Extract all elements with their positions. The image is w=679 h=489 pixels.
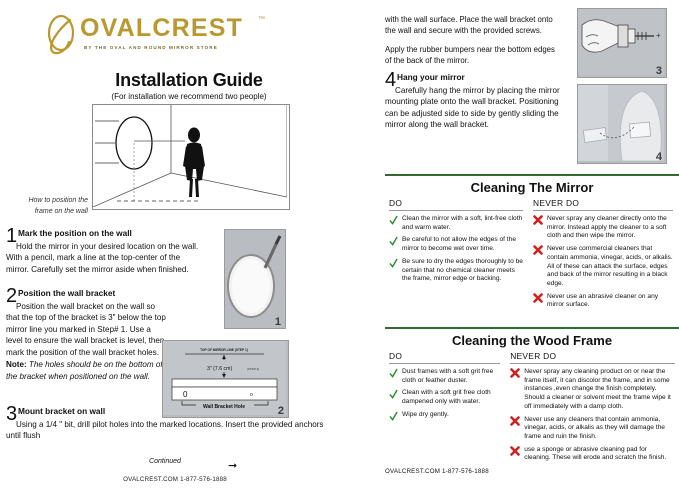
continuation-paragraph-1: with the wall surface. Place the wall br… [385, 14, 561, 37]
right-column: with the wall surface. Place the wall br… [385, 0, 679, 489]
never-item: Never spray any cleaner directly onto th… [533, 215, 673, 241]
step-4-heading: Hang your mirror [397, 72, 571, 84]
never-item: Never spray any cleaning product on or n… [510, 368, 675, 412]
footer-right: OVALCREST.COM 1-877-576-1888 [385, 468, 489, 475]
photo-oval-mirror-with-pencil: 1 [224, 229, 286, 329]
never-column-frame: NEVER DO Never spray any cleaning produc… [510, 351, 675, 463]
never-column-mirror: NEVER DO Never spray any cleaner directl… [533, 198, 673, 310]
do-column-frame: DO Dust frames with a soft grit free clo… [389, 351, 500, 463]
section-title-cleaning-wood-frame: Cleaning the Wood Frame [385, 329, 679, 351]
continuation-paragraph-2: Apply the rubber bumpers near the bottom… [385, 44, 561, 67]
step-4-number: 4 [385, 72, 396, 89]
footer-left: OVALCREST.COM 1-877-576-1888 [0, 476, 350, 483]
photo-hanging-mirror-on-bracket: 4 [577, 84, 667, 164]
photo-2-number: 2 [278, 405, 284, 417]
photo-4-number: 4 [656, 151, 662, 163]
step-4: 4 Hang your mirror Carefully hang the mi… [385, 72, 571, 131]
never-item-text: Never use any cleaners that contain ammo… [524, 416, 675, 442]
page-title: Installation Guide [0, 70, 378, 91]
never-header-frame: NEVER DO [510, 351, 675, 364]
svg-text:3" (7.6 cm): 3" (7.6 cm) [207, 366, 232, 372]
photo-hand-drilling-screw: + 3 [577, 8, 667, 78]
step-2-number: 2 [6, 288, 17, 305]
trademark-symbol: ™ [258, 16, 265, 23]
do-item: Dust frames with a soft grit free cloth … [389, 368, 500, 385]
red-x-icon [533, 215, 543, 225]
oval-swirl-logo-icon [40, 14, 82, 56]
check-mark-icon [389, 236, 398, 246]
step-3-number: 3 [6, 406, 17, 423]
do-item: Be sure to dry the edges thoroughly to b… [389, 258, 523, 284]
svg-text:TOP OF MIRROR LINE (STEP 1): TOP OF MIRROR LINE (STEP 1) [200, 348, 248, 352]
red-x-icon [510, 446, 520, 456]
never-item: Never use any cleaners that contain ammo… [510, 416, 675, 442]
continued-label: Continued [0, 458, 330, 465]
check-mark-icon [389, 389, 398, 399]
red-x-icon [533, 293, 543, 303]
never-item-text: Never spray any cleaning product on or n… [524, 368, 675, 412]
section-title-cleaning-mirror: Cleaning The Mirror [385, 176, 679, 198]
svg-text:Wall Bracket Hole: Wall Bracket Hole [203, 404, 245, 410]
step-2-body: Position the wall bracket on the wall so… [6, 301, 166, 358]
do-item: Be careful to not allow the edges of the… [389, 236, 523, 253]
red-x-icon [510, 368, 520, 378]
do-item-text: Clean the mirror with a soft, lint-free … [402, 215, 523, 232]
do-item: Clean the mirror with a soft, lint-free … [389, 215, 523, 232]
step-2: 2 Position the wall bracket Position the… [6, 288, 166, 382]
step-3-body: Using a 1/4 " bit, drill pilot holes int… [6, 419, 336, 442]
section-cleaning-wood-frame: Cleaning the Wood Frame DO Dust frames w… [385, 327, 679, 463]
never-item-text: use a sponge or abrasive cleaning pad fo… [524, 446, 675, 463]
red-x-icon [510, 416, 520, 426]
do-item-text: Dust frames with a soft grit free cloth … [402, 368, 500, 385]
do-header-mirror: DO [389, 198, 523, 211]
check-mark-icon [389, 258, 398, 268]
step-4-body: Carefully hang the mirror by placing the… [385, 85, 571, 131]
check-mark-icon [389, 411, 398, 421]
brand-logo: OVALCREST ™ BY THE OVAL AND ROUND MIRROR… [40, 14, 280, 60]
svg-text:0: 0 [183, 390, 188, 399]
never-header-mirror: NEVER DO [533, 198, 673, 211]
do-column-mirror: DO Clean the mirror with a soft, lint-fr… [389, 198, 523, 310]
do-item-text: Clean with a soft grit free cloth dampen… [402, 389, 500, 406]
step-1-body: Hold the mirror in your desired location… [6, 241, 202, 275]
step-1-number: 1 [6, 228, 17, 245]
do-item: Wipe dry gently. [389, 411, 500, 421]
red-x-icon [533, 245, 543, 255]
diagram-caption-line1: How to position the [28, 197, 88, 204]
never-item: Never use commercial cleaners that conta… [533, 245, 673, 289]
photo-3-number: 3 [656, 65, 662, 77]
photo-1-number: 1 [275, 316, 281, 328]
step-1: 1 Mark the position on the wall Hold the… [6, 228, 202, 275]
svg-text:+: + [656, 31, 661, 40]
diagram-caption: How to position the frame on the wall [6, 196, 88, 217]
diagram-caption-line2: frame on the wall [35, 208, 88, 215]
check-mark-icon [389, 215, 398, 225]
do-item-text: Wipe dry gently. [402, 411, 500, 421]
installation-guide-page: OVALCREST ™ BY THE OVAL AND ROUND MIRROR… [0, 0, 679, 489]
left-column: OVALCREST ™ BY THE OVAL AND ROUND MIRROR… [0, 0, 378, 489]
never-item-text: Never use an abrasive cleaner on any mir… [547, 293, 673, 310]
do-item-text: Be careful to not allow the edges of the… [402, 236, 523, 253]
note-label: Note: [6, 360, 27, 369]
brand-tagline: BY THE OVAL AND ROUND MIRROR STORE [84, 45, 218, 50]
room-wall-position-diagram [92, 104, 290, 210]
never-item: Never use an abrasive cleaner on any mir… [533, 293, 673, 310]
diagram-wall-bracket-measurement: TOP OF MIRROR LINE (STEP 1) 3" (7.6 cm) … [162, 340, 289, 418]
step-2-heading: Position the wall bracket [18, 288, 166, 300]
step-2-note: Note: The holes should be on the bottom … [6, 359, 166, 382]
never-item-text: Never use commercial cleaners that conta… [547, 245, 673, 289]
section-cleaning-mirror: Cleaning The Mirror DO Clean the mirror … [385, 174, 679, 310]
brand-name: OVALCREST [80, 16, 243, 41]
step-1-heading: Mark the position on the wall [18, 228, 202, 240]
do-item: Clean with a soft grit free cloth dampen… [389, 389, 500, 406]
never-item-text: Never spray any cleaner directly onto th… [547, 215, 673, 241]
page-subtitle: (For installation we recommend two peopl… [0, 92, 378, 101]
svg-text:o: o [250, 392, 253, 398]
svg-text:(STEP 2): (STEP 2) [247, 367, 259, 371]
check-mark-icon [389, 368, 398, 378]
arrow-right-icon: ➞ [228, 459, 237, 472]
do-item-text: Be sure to dry the edges thoroughly to b… [402, 258, 523, 284]
never-item: use a sponge or abrasive cleaning pad fo… [510, 446, 675, 463]
do-header-frame: DO [389, 351, 500, 364]
